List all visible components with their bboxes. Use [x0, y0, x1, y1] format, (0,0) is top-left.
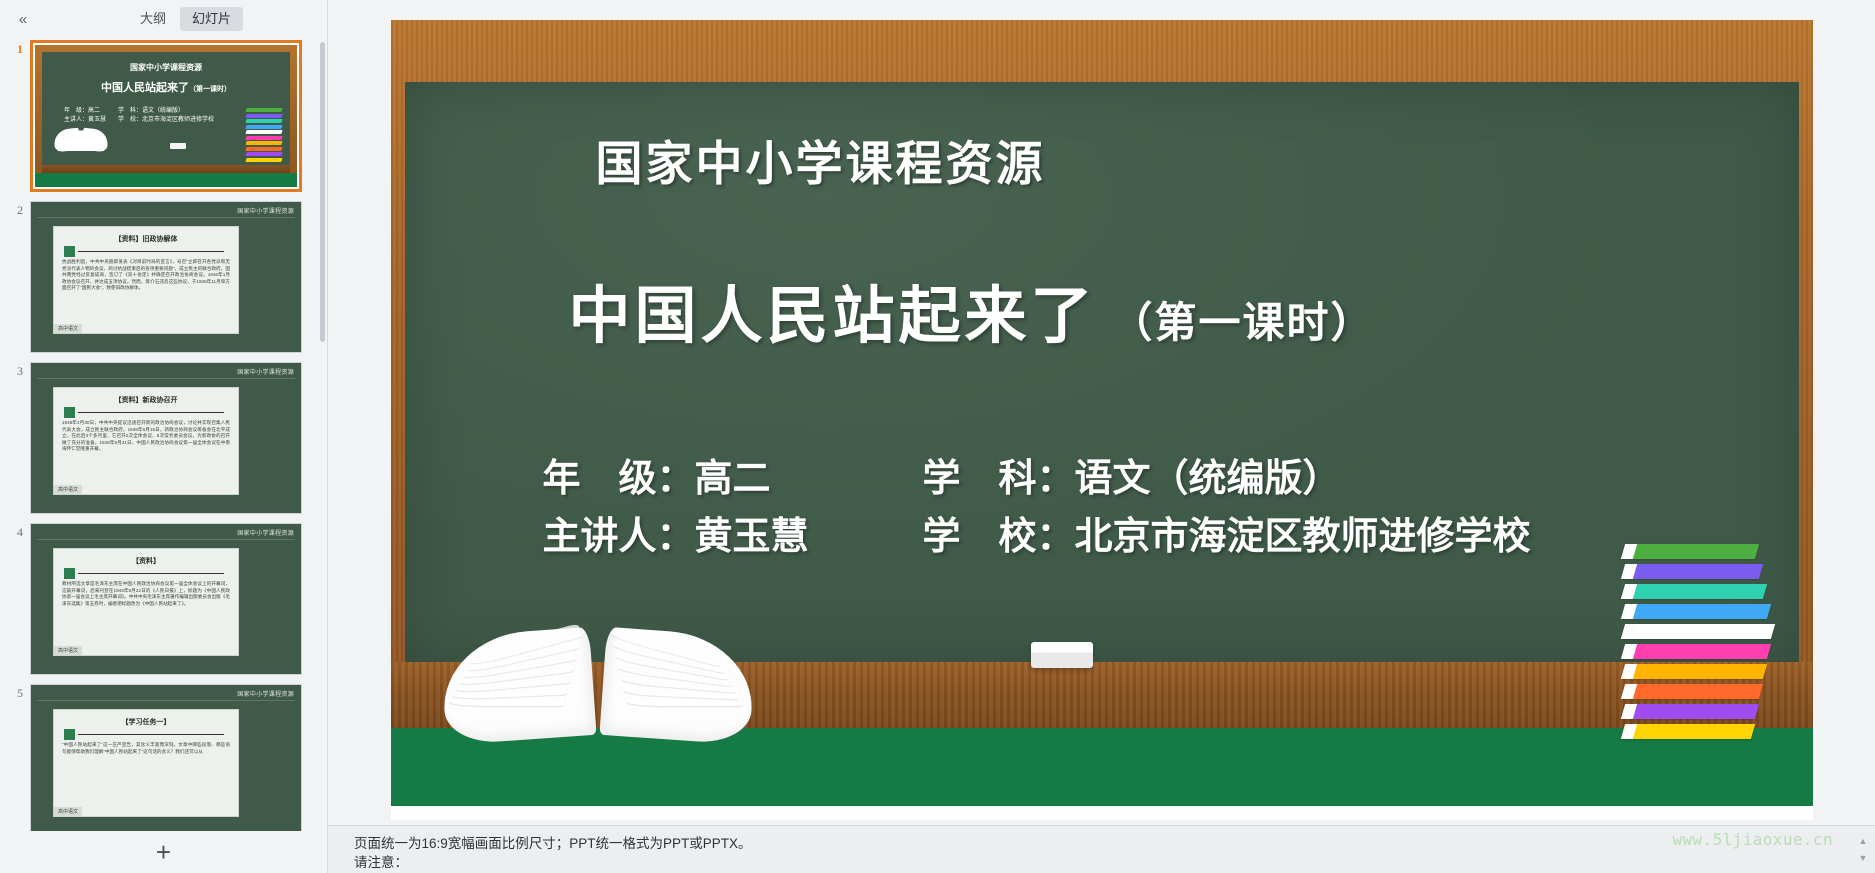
mini-book-layer [245, 130, 282, 134]
thumbnail-canvas: 国家中小学课程资源【资料】旧政协解体抗战胜利后，中共中央随即发表《对目前时局的宣… [31, 202, 301, 352]
tab-slides[interactable]: 幻灯片 [180, 7, 243, 31]
scroll-down-icon[interactable]: ▼ [1859, 854, 1868, 863]
mini-info-line-2: 主讲人：黄玉慧 学 校：北京市海淀区教师进修学校 [64, 116, 276, 125]
mini-divider [37, 378, 295, 379]
mini-book-stack-icon [246, 108, 282, 150]
mini-headline-main: 中国人民站起来了 [101, 82, 189, 94]
thumbnail-canvas: 国家中小学课程资源【资料】新政协召开1948年4月30日，中共中央提议迅速召开新… [31, 363, 301, 513]
mini-headline-text: 中国人民站起来了（第一课时） [42, 79, 290, 95]
notes-line-1: 页面统一为16:9宽幅画面比例尺寸；PPT统一格式为PPT或PPTX。 [354, 834, 1849, 853]
slide-headline-main: 中国人民站起来了 [569, 265, 1097, 355]
collapse-panel-icon[interactable]: « [12, 8, 34, 30]
mini-card-body: 教材所选文章是毛泽东主席在中国人民政治协商会议第一届全体会议上的开幕词，这篇开幕… [62, 581, 230, 639]
mini-subject-tag: 高中语文 [54, 807, 82, 816]
mini-green-square-icon [64, 568, 75, 579]
mini-card-body: 抗战胜利后，中共中央随即发表《对目前时局的宣言》，号召“立即召开各党派和无党派代… [62, 259, 230, 317]
slide-meta-row-2: 主讲人：黄玉慧学 校：北京市海淀区教师进修学校 [543, 508, 1703, 566]
add-slide-bar: + [0, 831, 327, 873]
mini-header-text: 国家中小学课程资源 [237, 206, 294, 215]
mini-book-layer [245, 114, 282, 118]
mini-header-text: 国家中小学课程资源 [237, 689, 294, 698]
mini-base-strip [35, 173, 297, 187]
thumbnail-canvas: 国家中小学课程资源【学习任务一】“中国人民站起来了”这一庄严宣告，其含义丰富而深… [31, 685, 301, 831]
mini-book-layer [245, 147, 282, 151]
mini-headline-sub: （第一课时） [189, 86, 231, 93]
mini-header-text: 国家中小学课程资源 [237, 367, 294, 376]
slide-text-layer: 国家中小学课程资源 中国人民站起来了 （第一课时） 年 级：高二学 科：语文（统… [391, 20, 1813, 820]
mini-book-layer [245, 119, 282, 123]
slide-lecturer-label: 主讲人：黄玉慧 [543, 508, 923, 566]
mini-card-title: 【资料】新政协召开 [54, 395, 238, 405]
mini-green-square-icon [64, 407, 75, 418]
slide-headline-sub: （第一课时） [1111, 289, 1375, 350]
mini-divider [37, 539, 295, 540]
mini-subject-tag: 高中语文 [54, 324, 82, 333]
sidebar-tabs: 大纲 幻灯片 [128, 7, 243, 31]
mini-chalkboard-frame: 国家中小学课程资源 中国人民站起来了（第一课时） 年 级：高二 学 科：语文（统… [35, 45, 297, 187]
list-item[interactable]: 2国家中小学课程资源【资料】旧政协解体抗战胜利后，中共中央随即发表《对目前时局的… [10, 201, 317, 353]
mini-book-layer [245, 125, 282, 129]
thumbnail-number: 1 [10, 40, 30, 57]
mini-book-layer [245, 141, 282, 145]
mini-divider [37, 700, 295, 701]
slide-editor-main: 国家中小学课程资源 中国人民站起来了 （第一课时） 年 级：高二学 科：语文（统… [328, 0, 1875, 873]
thumbnail-number: 3 [10, 362, 30, 379]
list-item[interactable]: 3国家中小学课程资源【资料】新政协召开1948年4月30日，中共中央提议迅速召开… [10, 362, 317, 514]
mini-card-body: 1948年4月30日，中共中央提议迅速召开新的政治协商会议，讨论并实现召集人民代… [62, 420, 230, 478]
slide-subject-label: 学 科：语文（统编版） [923, 458, 1341, 500]
mini-eraser-icon [170, 143, 186, 149]
chalkboard-scene: 国家中小学课程资源 中国人民站起来了 （第一课时） 年 级：高二学 科：语文（统… [391, 20, 1813, 820]
list-item[interactable]: 1 国家中小学课程资源 中国人民站起来了（第一课时） 年 级：高二 学 科：语文… [10, 40, 317, 192]
mini-card-body: “中国人民站起来了”这一庄严宣告，其含义丰富而深刻。文章中哪些段落、哪些语句能够… [62, 742, 230, 800]
mini-green-square-icon [64, 246, 75, 257]
mini-chalkboard: 国家中小学课程资源 中国人民站起来了（第一课时） 年 级：高二 学 科：语文（统… [42, 52, 290, 165]
slide-canvas[interactable]: 国家中小学课程资源 中国人民站起来了 （第一课时） 年 级：高二学 科：语文（统… [391, 20, 1813, 820]
mini-green-square-icon [64, 729, 75, 740]
thumbnail-slide-3[interactable]: 国家中小学课程资源【资料】新政协召开1948年4月30日，中共中央提议迅速召开新… [30, 362, 302, 514]
scroll-up-icon[interactable]: ▲ [1859, 837, 1868, 846]
mini-info-line-1: 年 级：高二 学 科：语文（统编版） [64, 107, 276, 116]
mini-content-card: 【学习任务一】“中国人民站起来了”这一庄严宣告，其含义丰富而深刻。文章中哪些段落… [53, 709, 239, 817]
thumbnail-number: 4 [10, 523, 30, 540]
thumbnail-number: 2 [10, 201, 30, 218]
mini-title-underline [78, 412, 224, 413]
sidebar-toolbar: « 大纲 幻灯片 [0, 0, 327, 38]
notes-bar[interactable]: 页面统一为16:9宽幅画面比例尺寸；PPT统一格式为PPT或PPTX。 请注意：… [328, 825, 1875, 873]
slide-meta-block[interactable]: 年 级：高二学 科：语文（统编版） 主讲人：黄玉慧学 校：北京市海淀区教师进修学… [543, 450, 1703, 566]
mini-card-title: 【资料】旧政协解体 [54, 234, 238, 244]
thumbnail-canvas: 国家中小学课程资源 中国人民站起来了（第一课时） 年 级：高二 学 科：语文（统… [33, 43, 299, 189]
mini-subject-tag: 高中语文 [54, 646, 82, 655]
list-item[interactable]: 4国家中小学课程资源【资料】教材所选文章是毛泽东主席在中国人民政治协商会议第一届… [10, 523, 317, 675]
mini-title-underline [78, 251, 224, 252]
mini-open-book-icon [54, 127, 108, 151]
mini-subject-tag: 高中语文 [54, 485, 82, 494]
thumbnail-slide-4[interactable]: 国家中小学课程资源【资料】教材所选文章是毛泽东主席在中国人民政治协商会议第一届全… [30, 523, 302, 675]
thumbnails-container: 1 国家中小学课程资源 中国人民站起来了（第一课时） 年 级：高二 学 科：语文… [0, 40, 327, 831]
mini-card-title: 【学习任务一】 [54, 717, 238, 727]
mini-book-layer [245, 152, 282, 156]
slide-school-label: 学 校：北京市海淀区教师进修学校 [923, 516, 1531, 558]
thumbnail-canvas: 国家中小学课程资源【资料】教材所选文章是毛泽东主席在中国人民政治协商会议第一届全… [31, 524, 301, 674]
slides-sidebar: « 大纲 幻灯片 1 国家中小学课程资源 中国人 [0, 0, 328, 873]
mini-book-layer [245, 136, 282, 140]
mini-title-underline [78, 573, 224, 574]
mini-book-layer [245, 158, 282, 162]
site-watermark: www.5ljiaoxue.cn [1672, 830, 1833, 849]
notes-line-2: 请注意： [354, 853, 1849, 872]
slide-grade-label: 年 级：高二 [543, 450, 923, 508]
mini-title-underline [78, 734, 224, 735]
mini-content-card: 【资料】新政协召开1948年4月30日，中共中央提议迅速召开新的政治协商会议，讨… [53, 387, 239, 495]
thumbnail-slide-1[interactable]: 国家中小学课程资源 中国人民站起来了（第一课时） 年 级：高二 学 科：语文（统… [30, 40, 302, 192]
thumbnail-number: 5 [10, 684, 30, 701]
slide-headline[interactable]: 中国人民站起来了 （第一课时） [569, 265, 1375, 355]
thumbnail-slide-2[interactable]: 国家中小学课程资源【资料】旧政协解体抗战胜利后，中共中央随即发表《对目前时局的宣… [30, 201, 302, 353]
mini-divider [37, 217, 295, 218]
thumbnail-slide-5[interactable]: 国家中小学课程资源【学习任务一】“中国人民站起来了”这一庄严宣告，其含义丰富而深… [30, 684, 302, 831]
slide-meta-row-1: 年 级：高二学 科：语文（统编版） [543, 450, 1703, 508]
tab-outline[interactable]: 大纲 [128, 7, 178, 31]
slide-thumbnail-list[interactable]: 1 国家中小学课程资源 中国人民站起来了（第一课时） 年 级：高二 学 科：语文… [0, 38, 327, 831]
mini-header-text: 国家中小学课程资源 [237, 528, 294, 537]
slide-header-title[interactable]: 国家中小学课程资源 [596, 125, 1046, 194]
add-slide-button[interactable]: + [149, 837, 179, 867]
mini-content-card: 【资料】旧政协解体抗战胜利后，中共中央随即发表《对目前时局的宣言》，号召“立即召… [53, 226, 239, 334]
mini-book-layer [245, 108, 282, 112]
notes-scroll-arrows[interactable]: ▲ ▼ [1856, 837, 1870, 863]
document-thumbnails: 2国家中小学课程资源【资料】旧政协解体抗战胜利后，中共中央随即发表《对目前时局的… [10, 201, 317, 831]
ppt-editor-app: « 大纲 幻灯片 1 国家中小学课程资源 中国人 [0, 0, 1875, 873]
thumbnail-scrollbar[interactable] [320, 42, 325, 342]
mini-info-block: 年 级：高二 学 科：语文（统编版） 主讲人：黄玉慧 学 校：北京市海淀区教师进… [64, 107, 276, 125]
mini-chalk-ledge [42, 165, 290, 173]
list-item[interactable]: 5国家中小学课程资源【学习任务一】“中国人民站起来了”这一庄严宣告，其含义丰富而… [10, 684, 317, 831]
mini-card-title: 【资料】 [54, 556, 238, 566]
mini-content-card: 【资料】教材所选文章是毛泽东主席在中国人民政治协商会议第一届全体会议上的开幕词，… [53, 548, 239, 656]
mini-header-text: 国家中小学课程资源 [42, 62, 290, 73]
